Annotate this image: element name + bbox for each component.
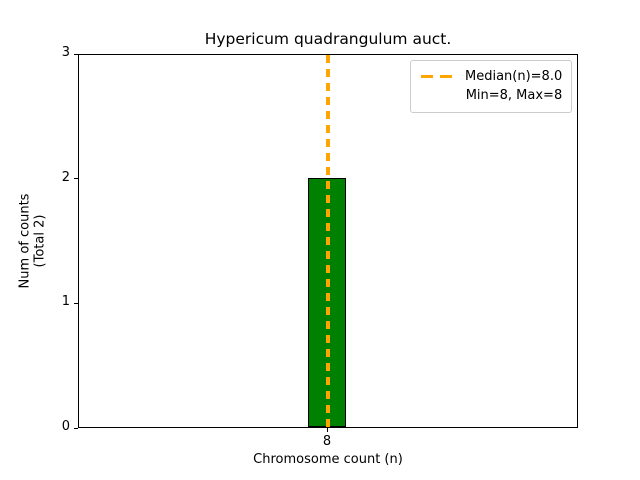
y-tick-label: 1 — [40, 294, 70, 309]
y-axis-label-line1: Num of counts — [18, 194, 33, 289]
y-tick-label: 0 — [40, 419, 70, 434]
legend-item-minmax: Min=8, Max=8 — [420, 86, 562, 105]
legend-item-median: Median(n)=8.0 — [420, 67, 562, 86]
legend-label-median: Median(n)=8.0 — [465, 69, 562, 84]
dashed-line-icon — [420, 67, 456, 86]
x-axis-label: Chromosome count (n) — [78, 452, 578, 467]
y-axis-label-line2: (Total 2) — [33, 215, 48, 268]
y-tick-label: 3 — [40, 45, 70, 60]
y-tick-label: 2 — [40, 170, 70, 185]
legend-label-minmax: Min=8, Max=8 — [466, 88, 563, 103]
chart-figure: Hypericum quadrangulum auct. 0 1 2 3 8 C… — [0, 0, 640, 480]
page-title: Hypericum quadrangulum auct. — [78, 30, 578, 48]
legend: Median(n)=8.0 Min=8, Max=8 — [410, 60, 572, 113]
x-tick-label: 8 — [297, 434, 357, 449]
x-tick-mark — [327, 428, 328, 432]
median-line — [326, 55, 329, 427]
